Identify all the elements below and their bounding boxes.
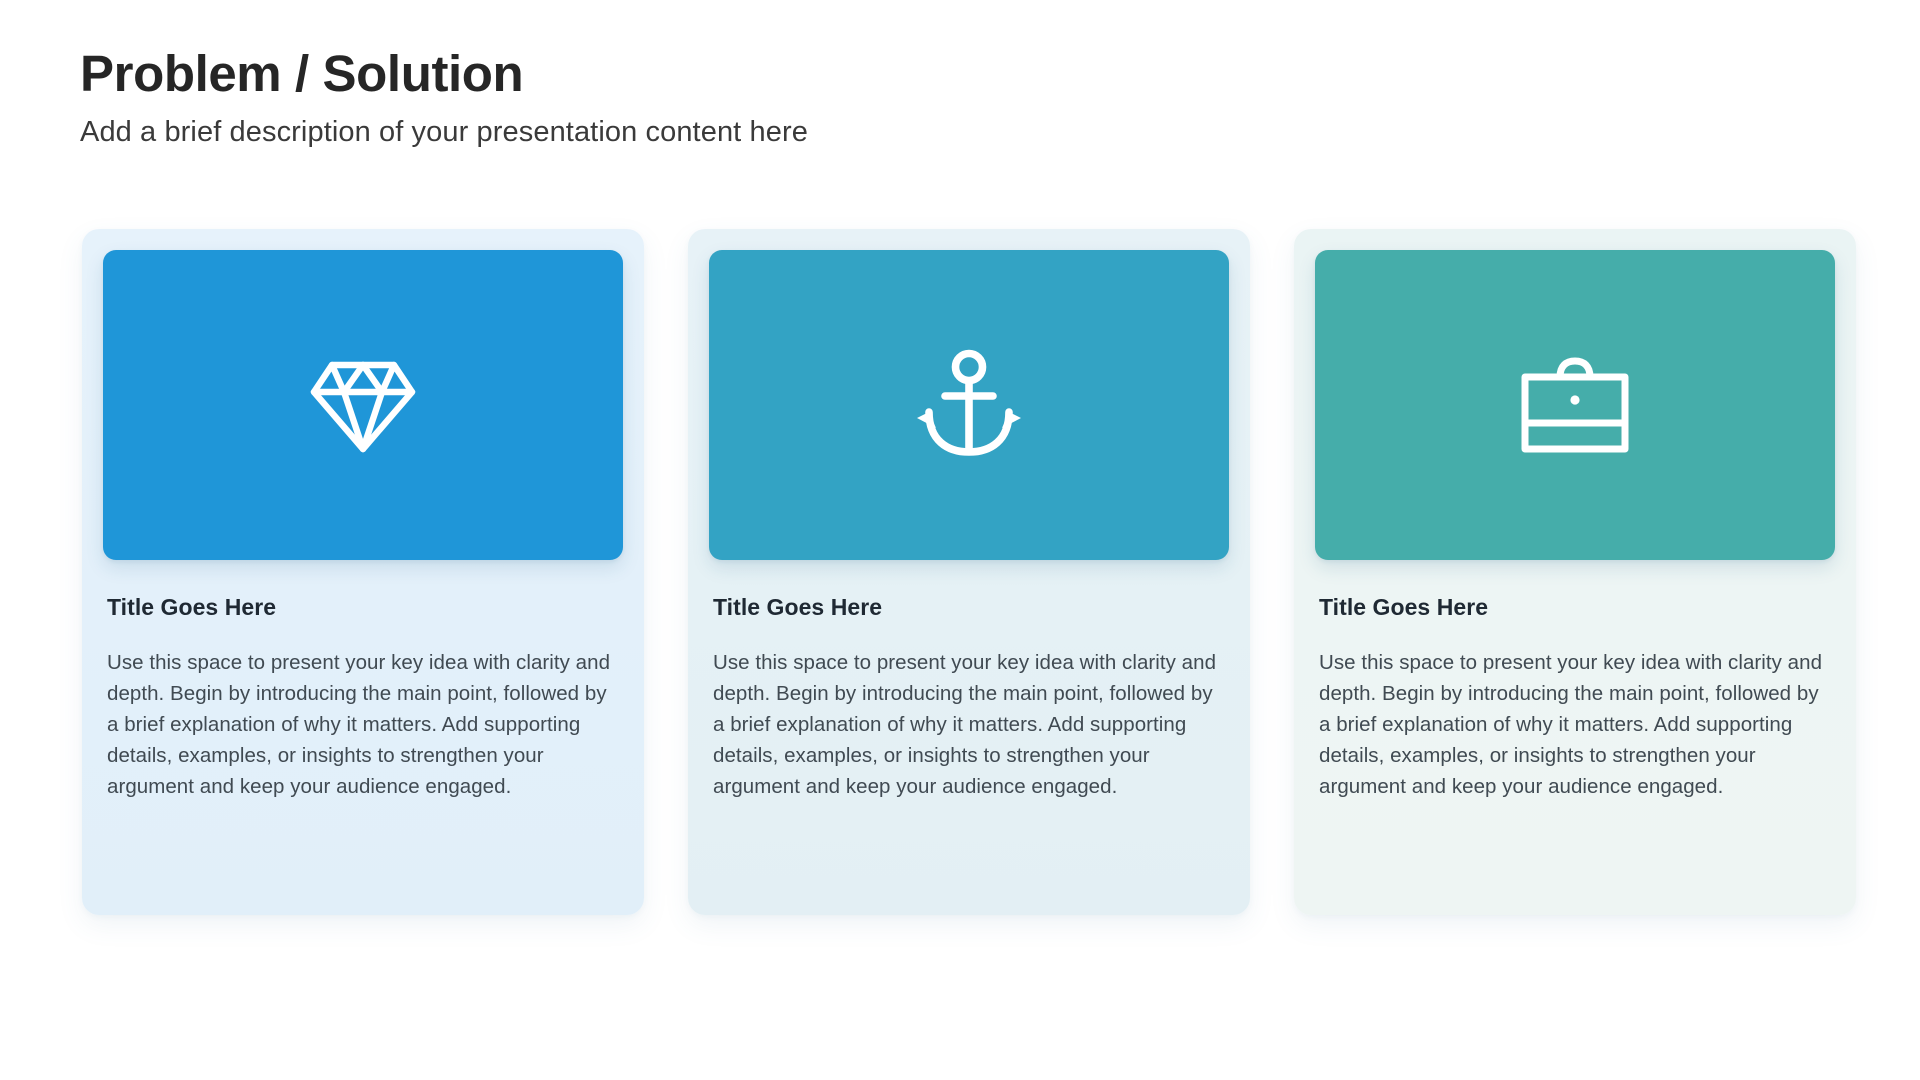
slide-canvas: Problem / Solution Add a brief descripti…: [0, 0, 1920, 1080]
card-title-1: Title Goes Here: [107, 593, 619, 622]
feature-card-2[interactable]: Title Goes Here Use this space to presen…: [688, 229, 1250, 915]
diamond-icon: [308, 352, 418, 458]
card-body-3: Title Goes Here Use this space to presen…: [1315, 593, 1835, 803]
card-body-2: Title Goes Here Use this space to presen…: [709, 593, 1229, 803]
card-text-1: Use this space to present your key idea …: [107, 647, 619, 803]
page-subtitle: Add a brief description of your presenta…: [80, 114, 1780, 152]
card-title-2: Title Goes Here: [713, 593, 1225, 622]
feature-card-1[interactable]: Title Goes Here Use this space to presen…: [82, 229, 644, 915]
card-body-1: Title Goes Here Use this space to presen…: [103, 593, 623, 803]
card-text-3: Use this space to present your key idea …: [1319, 647, 1831, 803]
anchor-icon: [914, 348, 1024, 462]
card-media-3: [1315, 250, 1835, 560]
card-text-2: Use this space to present your key idea …: [713, 647, 1225, 803]
card-media-2: [709, 250, 1229, 560]
card-media-1: [103, 250, 623, 560]
feature-card-3[interactable]: Title Goes Here Use this space to presen…: [1294, 229, 1856, 915]
cards-row: Title Goes Here Use this space to presen…: [82, 229, 1856, 915]
slide-header: Problem / Solution Add a brief descripti…: [80, 44, 1780, 152]
briefcase-icon: [1519, 355, 1631, 455]
card-title-3: Title Goes Here: [1319, 593, 1831, 622]
page-title: Problem / Solution: [80, 44, 1780, 104]
